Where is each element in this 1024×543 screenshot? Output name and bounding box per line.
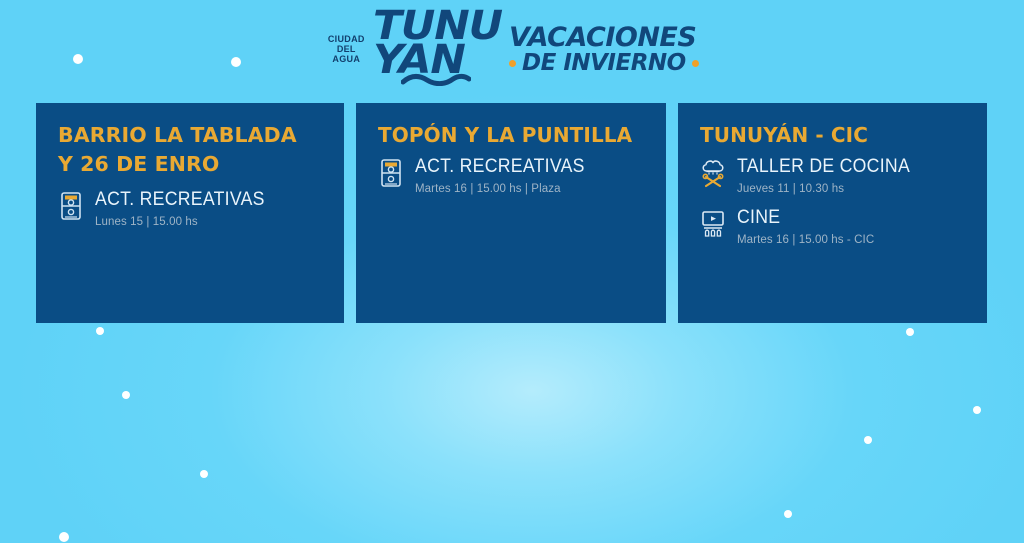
event-text: CINE Martes 16 | 15.00 hs - CIC: [737, 207, 874, 248]
event-list: ACT. RECREATIVAS Martes 16 | 15.00 hs | …: [378, 156, 644, 197]
event-meta: Martes 16 | 15.00 hs | Plaza: [415, 182, 598, 197]
tagline: VACACIONES DE INVIERNO: [509, 22, 699, 74]
decorative-dot: [200, 470, 208, 478]
event-item[interactable]: TALLER DE COCINA Jueves 11 | 10.30 hs: [700, 156, 965, 197]
brand-subtitle-line2: DEL: [325, 44, 367, 54]
activity-card-topon-y-la-puntilla[interactable]: TOPÓN Y LA PUNTILLA ACT. RECREATIVAS Mar…: [356, 103, 666, 323]
chef-hat-icon: [700, 158, 726, 188]
activity-card-barrio-la-tablada[interactable]: BARRIO LA TABLADA Y 26 DE ENRO ACT. RECR…: [36, 103, 344, 323]
card-title: TUNUYÁN - CIC: [700, 121, 965, 150]
tagline-line2: DE INVIERNO: [522, 53, 686, 74]
tagline-line1: VACACIONES: [509, 26, 699, 50]
card-title: TOPÓN Y LA PUNTILLA: [378, 121, 644, 150]
activity-card-tunuyan-cic[interactable]: TUNUYÁN - CIC TALLER DE COCINA Jueves 11: [678, 103, 987, 323]
event-list: ACT. RECREATIVAS Lunes 15 | 15.00 hs: [58, 189, 322, 230]
event-title: CINE: [737, 207, 865, 229]
header-logo-area: CIUDAD DEL AGUA TUNU YAN VACACIONES DE I…: [0, 0, 1024, 100]
decorative-dot: [59, 532, 69, 542]
brand-mark: CIUDAD DEL AGUA TUNU YAN: [325, 10, 495, 86]
brand-subtitle: CIUDAD DEL AGUA: [325, 10, 367, 64]
decorative-dot: [973, 406, 981, 414]
decorative-dot: [122, 391, 130, 399]
event-title: TALLER DE COCINA: [737, 156, 910, 178]
logo: CIUDAD DEL AGUA TUNU YAN VACACIONES DE I…: [325, 10, 698, 86]
tagline-line2-row: DE INVIERNO: [509, 53, 699, 74]
decorative-dot: [96, 327, 104, 335]
event-meta: Jueves 11 | 10.30 hs: [737, 182, 923, 197]
event-title: ACT. RECREATIVAS: [95, 189, 265, 211]
playground-activity-icon: [58, 191, 84, 221]
event-item[interactable]: ACT. RECREATIVAS Martes 16 | 15.00 hs | …: [378, 156, 644, 197]
brand-subtitle-line1: CIUDAD: [325, 34, 367, 44]
event-item[interactable]: CINE Martes 16 | 15.00 hs - CIC: [700, 207, 965, 248]
decorative-dot: [906, 328, 914, 336]
brand-subtitle-line3: AGUA: [325, 54, 367, 64]
event-text: ACT. RECREATIVAS Martes 16 | 15.00 hs | …: [415, 156, 598, 197]
activity-cards-row: BARRIO LA TABLADA Y 26 DE ENRO ACT. RECR…: [0, 103, 1024, 323]
playground-activity-icon: [378, 158, 404, 188]
decorative-dot: [784, 510, 792, 518]
event-item[interactable]: ACT. RECREATIVAS Lunes 15 | 15.00 hs: [58, 189, 322, 230]
decorative-dot: [864, 436, 872, 444]
brand-wordmark: TUNU YAN: [373, 10, 495, 86]
cinema-screen-icon: [700, 209, 726, 239]
event-text: ACT. RECREATIVAS Lunes 15 | 15.00 hs: [95, 189, 278, 230]
brand-line-yan: YAN: [373, 44, 502, 78]
orange-dot-icon-left: [509, 60, 516, 67]
event-list: TALLER DE COCINA Jueves 11 | 10.30 hs CI…: [700, 156, 965, 248]
event-title: ACT. RECREATIVAS: [415, 156, 585, 178]
orange-dot-icon-right: [692, 60, 699, 67]
card-title: BARRIO LA TABLADA Y 26 DE ENRO: [58, 121, 322, 179]
event-meta: Lunes 15 | 15.00 hs: [95, 215, 278, 230]
event-text: TALLER DE COCINA Jueves 11 | 10.30 hs: [737, 156, 923, 197]
event-meta: Martes 16 | 15.00 hs - CIC: [737, 233, 874, 248]
